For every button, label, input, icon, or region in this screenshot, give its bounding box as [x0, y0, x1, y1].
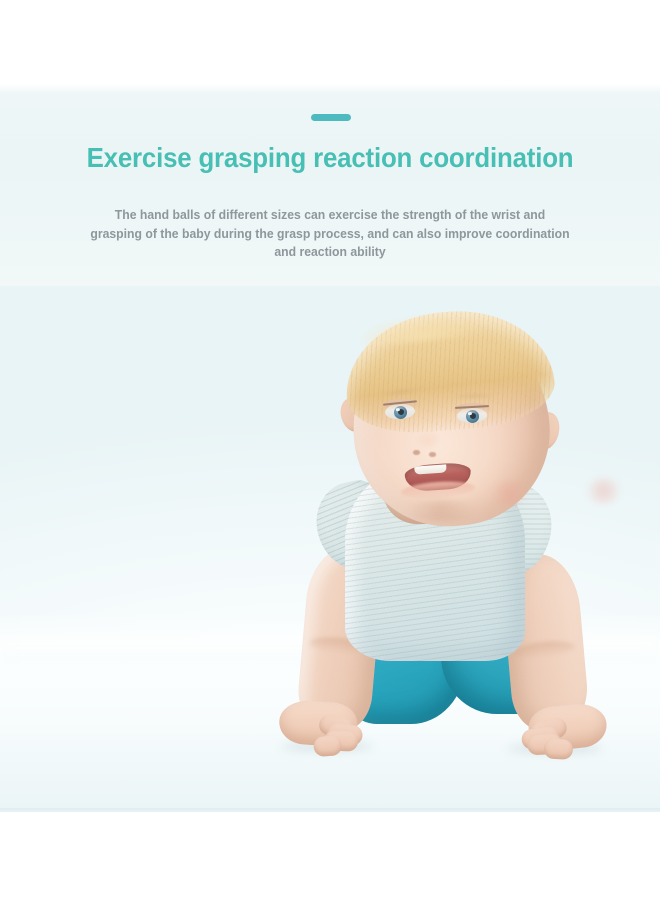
- nostril-left: [413, 450, 420, 455]
- finger-left-4: [313, 735, 342, 757]
- finger-right-4: [543, 738, 573, 759]
- description-text: The hand balls of different sizes can ex…: [18, 206, 643, 262]
- bottom-white-strip: [0, 812, 660, 900]
- description-line-3: and reaction ability: [18, 243, 643, 262]
- baby-figure: [245, 286, 645, 813]
- page-title: Exercise grasping reaction coordination: [20, 142, 640, 174]
- baby-hand-right: [509, 701, 610, 761]
- product-feature-banner: Exercise grasping reaction coordination …: [0, 0, 660, 900]
- description-line-2: grasping of the baby during the grasp pr…: [18, 225, 643, 244]
- description-line-1: The hand balls of different sizes can ex…: [18, 206, 643, 225]
- cheek-right: [580, 475, 626, 507]
- product-photo: [0, 286, 660, 813]
- accent-dash-icon: [311, 114, 351, 121]
- chin-shadow: [395, 500, 487, 522]
- top-white-strip: [0, 0, 660, 86]
- nostril-right: [429, 452, 436, 457]
- baby-teeth: [414, 464, 446, 474]
- baby-hand-left: [277, 699, 376, 756]
- baby-eye-left: [385, 403, 416, 420]
- baby-eye-right: [457, 407, 488, 423]
